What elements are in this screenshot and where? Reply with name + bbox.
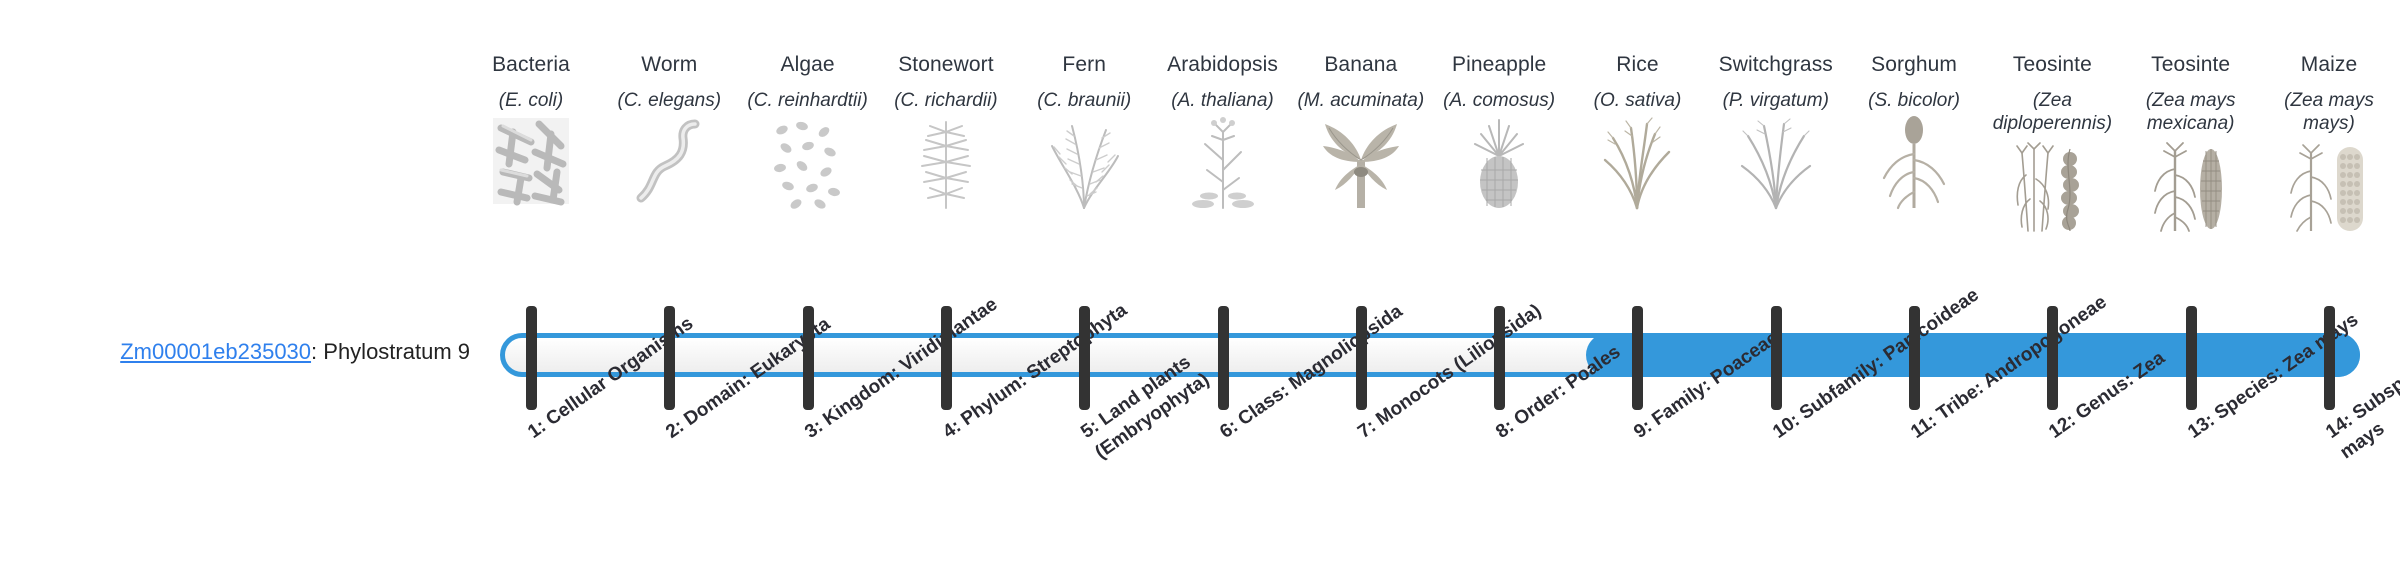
- species-latin-name: (O. sativa): [1569, 89, 1705, 112]
- rank-number: 12:: [2046, 410, 2081, 443]
- species-common-name: Sorghum: [1846, 52, 1982, 78]
- rank-number: 6:: [1216, 416, 1242, 443]
- tick-mark: [1356, 306, 1367, 410]
- species-column: Stonewort(C. richardii): [878, 52, 1014, 210]
- tick-mark: [1909, 306, 1920, 410]
- species-column: Rice(O. sativa): [1569, 52, 1705, 210]
- maize-icon: [2261, 141, 2397, 233]
- species-latin-name: (Zea diploperennis): [1984, 89, 2120, 135]
- species-column: Sorghum(S. bicolor): [1846, 52, 1982, 210]
- species-common-name: Teosinte: [1984, 52, 2120, 78]
- gene-id-link[interactable]: Zm00001eb235030: [120, 339, 311, 364]
- species-latin-name: (A. thaliana): [1155, 89, 1291, 112]
- species-latin-name: (P. virgatum): [1708, 89, 1844, 112]
- species-common-name: Pineapple: [1431, 52, 1567, 78]
- species-column: Bacteria(E. coli): [463, 52, 599, 210]
- species-column: Worm(C. elegans): [601, 52, 737, 210]
- banana-icon: [1293, 118, 1429, 210]
- worm-icon: [601, 118, 737, 210]
- rank-number: 13:: [2184, 410, 2219, 443]
- tick-mark: [1632, 306, 1643, 410]
- tick-mark: [2186, 306, 2197, 410]
- teosinte-diplo-icon: [1984, 141, 2120, 233]
- algae-icon: [740, 118, 876, 210]
- stonewort-icon: [878, 118, 1014, 210]
- species-common-name: Maize: [2261, 52, 2397, 78]
- tick-mark: [803, 306, 814, 410]
- switchgrass-icon: [1708, 118, 1844, 210]
- sorghum-icon: [1846, 118, 1982, 210]
- species-common-name: Bacteria: [463, 52, 599, 78]
- species-latin-name: (C. elegans): [601, 89, 737, 112]
- species-common-name: Worm: [601, 52, 737, 78]
- species-common-name: Banana: [1293, 52, 1429, 78]
- species-latin-name: (S. bicolor): [1846, 89, 1982, 112]
- species-common-name: Fern: [1016, 52, 1152, 78]
- gene-phylostratum-value: Phylostratum 9: [323, 339, 470, 364]
- species-common-name: Arabidopsis: [1155, 52, 1291, 78]
- species-latin-name: (C. richardii): [878, 89, 1014, 112]
- arabidopsis-icon: [1155, 118, 1291, 210]
- pineapple-icon: [1431, 118, 1567, 210]
- species-column: Teosinte(Zea diploperennis): [1984, 52, 2120, 233]
- species-column: Algae(C. reinhardtii): [740, 52, 876, 210]
- bacteria-icon: [463, 118, 599, 210]
- species-latin-name: (Zea mays mays): [2261, 89, 2397, 135]
- teosinte-mex-icon: [2123, 141, 2259, 233]
- phylostratigraphy-figure: Bacteria(E. coli)Worm(C. elegans)Algae(C…: [0, 0, 2400, 580]
- progress-fill: [1586, 333, 2360, 377]
- tick-mark: [2047, 306, 2058, 410]
- tick-mark: [1079, 306, 1090, 410]
- gene-phylostratum-label: Zm00001eb235030: Phylostratum 9: [30, 338, 470, 366]
- tick-mark: [1494, 306, 1505, 410]
- gene-label-separator: :: [311, 339, 323, 364]
- species-latin-name: (M. acuminata): [1293, 89, 1429, 112]
- species-common-name: Teosinte: [2123, 52, 2259, 78]
- tick-mark: [2324, 306, 2335, 410]
- species-common-name: Switchgrass: [1708, 52, 1844, 78]
- species-column: Banana(M. acuminata): [1293, 52, 1429, 210]
- species-common-name: Algae: [740, 52, 876, 78]
- species-latin-name: (E. coli): [463, 89, 599, 112]
- tick-mark: [664, 306, 675, 410]
- species-common-name: Rice: [1569, 52, 1705, 78]
- species-column: Fern(C. braunii): [1016, 52, 1152, 210]
- tick-mark: [526, 306, 537, 410]
- species-header-row: Bacteria(E. coli)Worm(C. elegans)Algae(C…: [0, 0, 2400, 310]
- species-latin-name: (A. comosus): [1431, 89, 1567, 112]
- species-common-name: Stonewort: [878, 52, 1014, 78]
- tick-mark: [1771, 306, 1782, 410]
- rank-number: 3:: [801, 416, 827, 443]
- rice-icon: [1569, 118, 1705, 210]
- species-latin-name: (C. braunii): [1016, 89, 1152, 112]
- rank-number: 11:: [1907, 410, 1941, 442]
- species-column: Teosinte(Zea mays mexicana): [2123, 52, 2259, 233]
- species-latin-name: (C. reinhardtii): [740, 89, 876, 112]
- species-latin-name: (Zea mays mexicana): [2123, 89, 2259, 135]
- species-column: Maize(Zea mays mays): [2261, 52, 2397, 233]
- rank-number: 7:: [1354, 416, 1380, 443]
- tick-mark: [941, 306, 952, 410]
- rank-number: 10:: [1769, 410, 1804, 443]
- species-column: Pineapple(A. comosus): [1431, 52, 1567, 210]
- tick-mark: [1218, 306, 1229, 410]
- species-column: Switchgrass(P. virgatum): [1708, 52, 1844, 210]
- species-column: Arabidopsis(A. thaliana): [1155, 52, 1291, 210]
- fern-icon: [1016, 118, 1152, 210]
